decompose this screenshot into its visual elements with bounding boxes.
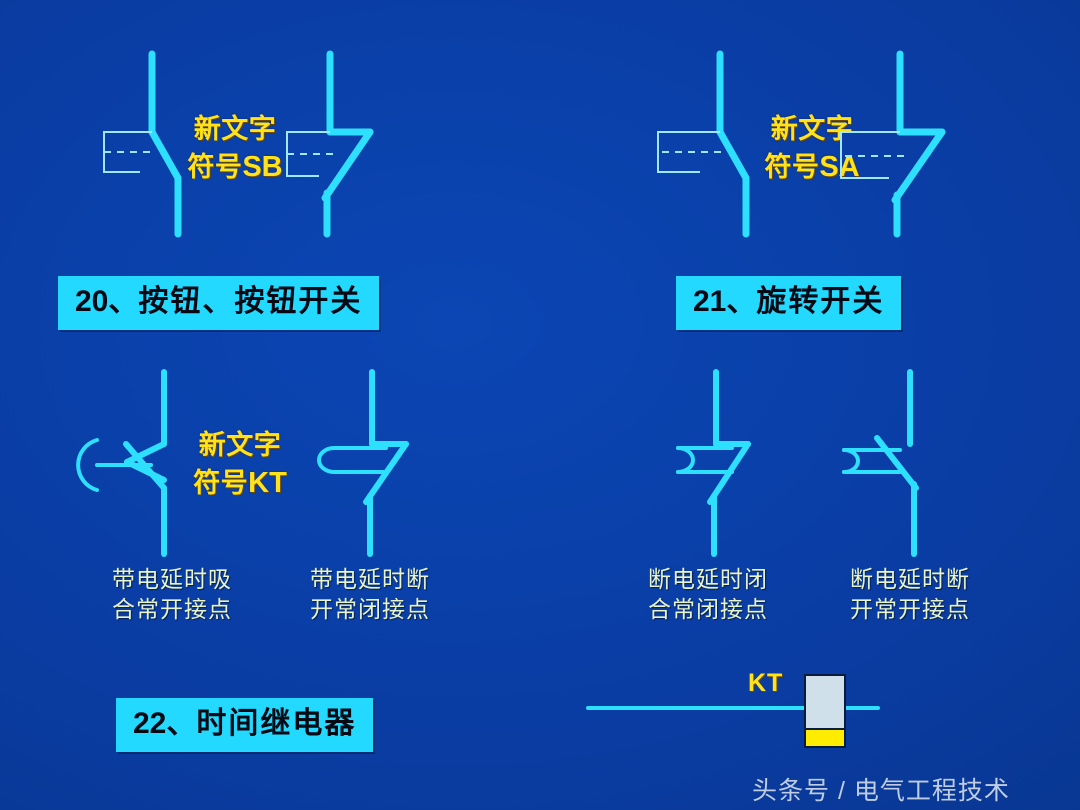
off-delay-normally-open-contact-symbol — [820, 368, 980, 558]
time-relay-coil-yellow-strip — [804, 728, 846, 748]
caption-off-delay-no-line2: 开常开接点 — [830, 594, 990, 624]
chip-timer-relay[interactable]: 22、时间继电器 — [116, 698, 373, 752]
caption-on-delay-nc-line1: 带电延时断 — [290, 564, 450, 594]
chip-timer-relay-number: 22、 — [133, 707, 196, 740]
caption-on-delay-no: 带电延时吸 合常开接点 — [92, 564, 252, 625]
rotary-switch-normally-closed-contact-symbol — [845, 48, 995, 240]
caption-off-delay-nc: 断电延时闭 合常闭接点 — [628, 564, 788, 625]
caption-off-delay-no-line1: 断电延时断 — [830, 564, 990, 594]
chip-rotary[interactable]: 21、旋转开关 — [676, 276, 901, 330]
chip-pushbutton[interactable]: 20、按钮、按钮开关 — [58, 276, 379, 330]
watermark-text: 头条号 / 电气工程技术 — [752, 771, 1010, 807]
chip-rotary-title: 旋转开关 — [756, 285, 884, 318]
caption-on-delay-no-line1: 带电延时吸 — [92, 564, 252, 594]
off-delay-normally-closed-contact-symbol — [638, 368, 788, 558]
pushbutton-normally-closed-contact-symbol — [275, 48, 415, 240]
chip-pushbutton-number: 20、 — [75, 285, 138, 318]
caption-off-delay-no: 断电延时断 开常开接点 — [830, 564, 990, 625]
kt-annotation: 新文字 符号KT — [170, 428, 310, 502]
on-delay-normally-closed-contact-symbol — [300, 368, 450, 558]
coil-label-kt: KT — [748, 669, 783, 698]
caption-off-delay-nc-line2: 合常闭接点 — [628, 594, 788, 624]
slide-canvas: 新文字 符号SB — [0, 0, 1080, 810]
caption-on-delay-nc: 带电延时断 开常闭接点 — [290, 564, 450, 625]
kt-annotation-line1: 新文字 — [170, 428, 310, 464]
caption-off-delay-nc-line1: 断电延时闭 — [628, 564, 788, 594]
kt-code: KT — [248, 467, 287, 499]
chip-timer-relay-title: 时间继电器 — [196, 707, 356, 740]
caption-on-delay-nc-line2: 开常闭接点 — [290, 594, 450, 624]
chip-rotary-number: 21、 — [693, 285, 756, 318]
chip-pushbutton-title: 按钮、按钮开关 — [138, 285, 362, 318]
kt-annotation-line2: 符号KT — [170, 464, 310, 502]
caption-on-delay-no-line2: 合常开接点 — [92, 594, 252, 624]
